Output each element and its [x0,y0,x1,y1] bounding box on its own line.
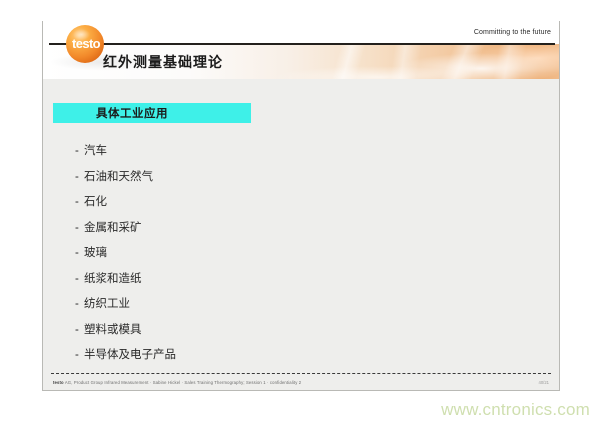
list-item: -石化 [75,196,515,222]
list-item: -半导体及电子产品 [75,349,515,375]
site-watermark: www.cntronics.com [441,400,590,420]
footer-page-number: 40/21 [539,379,549,386]
list-item: -金属和采矿 [75,222,515,248]
testo-logo: testo [66,25,104,63]
header-cloud-streaks [291,44,559,79]
footer-divider-rule [51,373,551,374]
footer-org: testo [53,380,64,385]
list-item-label: 纸浆和造纸 [84,273,142,285]
company-tagline: Committing to the future [474,29,551,36]
list-item-label: 塑料或模具 [84,324,142,336]
list-item-label: 金属和采矿 [84,222,142,234]
slide-body: 具体工业应用 -汽车 -石油和天然气 -石化 -金属和采矿 -玻璃 -纸浆和造纸… [43,79,559,390]
list-item: -纺织工业 [75,298,515,324]
bullet-marker: - [75,247,84,260]
bullet-marker: - [75,196,84,209]
slide-title: 红外测量基础理论 [103,52,223,72]
slide-subtitle: 具体工业应用 [96,105,168,121]
bullet-list: -汽车 -石油和天然气 -石化 -金属和采矿 -玻璃 -纸浆和造纸 -纺织工业 … [75,145,515,375]
bullet-marker: - [75,171,84,184]
list-item: -塑料或模具 [75,324,515,350]
list-item-label: 纺织工业 [84,298,130,310]
bullet-marker: - [75,298,84,311]
footer-credit: testo AG, Product Group Infrared Measure… [53,379,301,386]
list-item: -汽车 [75,145,515,171]
list-item: -石油和天然气 [75,171,515,197]
header-divider-rule [49,43,555,45]
list-item-label: 石油和天然气 [84,171,153,183]
list-item: -玻璃 [75,247,515,273]
list-item: -纸浆和造纸 [75,273,515,299]
bullet-marker: - [75,324,84,337]
list-item-label: 汽车 [84,145,107,157]
footer-details: AG, Product Group Infrared Measurement ·… [65,380,301,385]
bullet-marker: - [75,222,84,235]
bullet-marker: - [75,145,84,158]
slide-canvas: Committing to the future testo 红外测量基础理论 … [42,21,560,391]
bullet-marker: - [75,349,84,362]
list-item-label: 半导体及电子产品 [84,349,176,361]
bullet-marker: - [75,273,84,286]
logo-wordmark: testo [62,37,110,51]
list-item-label: 石化 [84,196,107,208]
list-item-label: 玻璃 [84,247,107,259]
